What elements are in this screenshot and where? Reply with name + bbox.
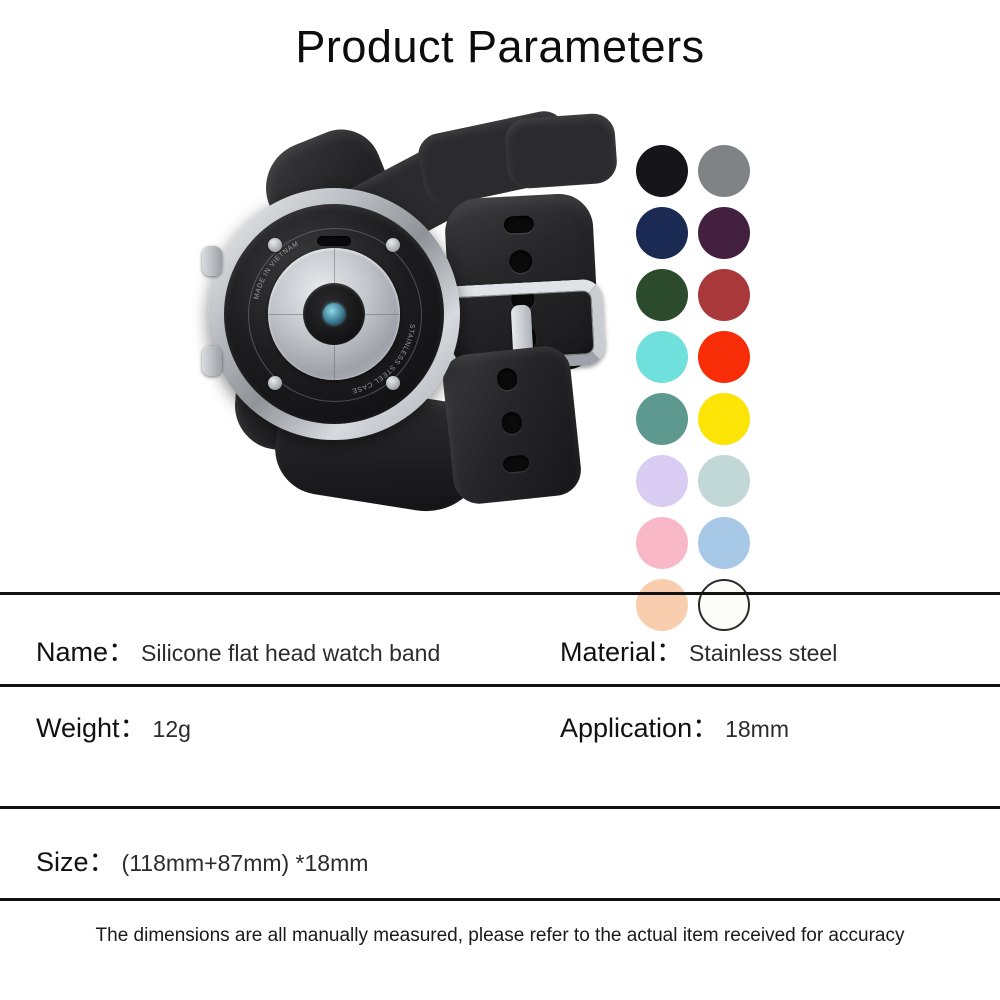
band-hole-5: [496, 367, 518, 391]
spec-row-application: Application： 18mm: [560, 706, 789, 745]
band-hole-1: [503, 215, 534, 234]
color-swatch-dark-green[interactable]: [636, 269, 688, 321]
color-swatch-white[interactable]: [698, 579, 750, 631]
spec-label-material: Material：: [560, 630, 683, 669]
color-swatch-pale-blue[interactable]: [698, 455, 750, 507]
color-swatch-peach[interactable]: [636, 579, 688, 631]
table-divider-third: [0, 806, 1000, 809]
color-swatch-black[interactable]: [636, 145, 688, 197]
color-swatch-turquoise[interactable]: [636, 331, 688, 383]
spec-value-name: Silicone flat head watch band: [141, 640, 440, 667]
spec-row-size: Size： (118mm+87mm) *18mm: [36, 840, 368, 879]
spec-row-name: Name： Silicone flat head watch band: [36, 630, 440, 669]
table-divider-top: [0, 592, 1000, 595]
spec-label-size: Size：: [36, 840, 116, 879]
heart-rate-sensor-array: [268, 248, 400, 380]
spec-label-weight: Weight：: [36, 706, 147, 745]
color-swatch-grid: [636, 145, 752, 631]
watch-side-button-top: [202, 246, 222, 276]
table-divider-bottom: [0, 898, 1000, 901]
sensor-optical-core: [303, 283, 365, 345]
spec-value-size: (118mm+87mm) *18mm: [122, 850, 369, 877]
table-divider-second: [0, 684, 1000, 687]
spec-value-application: 18mm: [725, 716, 789, 743]
band-lower-strap-segment: [441, 344, 584, 507]
spec-row-material: Material： Stainless steel: [560, 630, 837, 669]
watch-back-cover: MADE IN VIETNAM STAINLESS STEEL CASE: [224, 204, 444, 424]
band-hole-2: [509, 249, 533, 273]
color-swatch-lavender[interactable]: [636, 455, 688, 507]
color-swatch-yellow[interactable]: [698, 393, 750, 445]
band-hole-7: [502, 454, 530, 473]
color-swatch-red-orange[interactable]: [698, 331, 750, 383]
color-swatch-teal-gray[interactable]: [636, 393, 688, 445]
measurement-disclaimer: The dimensions are all manually measured…: [0, 925, 1000, 947]
spec-row-weight: Weight： 12g: [36, 706, 191, 745]
band-strap-tip: [504, 112, 619, 190]
spec-value-material: Stainless steel: [689, 640, 837, 667]
spec-value-weight: 12g: [153, 716, 191, 743]
color-swatch-dark-purple[interactable]: [698, 207, 750, 259]
product-photo-watch-band: MADE IN VIETNAM STAINLESS STEEL CASE: [180, 100, 620, 530]
color-swatch-pink[interactable]: [636, 517, 688, 569]
color-swatch-light-blue[interactable]: [698, 517, 750, 569]
hero-section: MADE IN VIETNAM STAINLESS STEEL CASE: [0, 95, 1000, 575]
band-hole-6: [501, 411, 523, 435]
spec-label-name: Name：: [36, 630, 135, 669]
spec-label-application: Application：: [560, 706, 719, 745]
color-swatch-navy-blue[interactable]: [636, 207, 688, 259]
smartwatch-case: MADE IN VIETNAM STAINLESS STEEL CASE: [208, 188, 460, 440]
watch-side-button-bottom: [202, 346, 222, 376]
color-swatch-brick-red[interactable]: [698, 269, 750, 321]
page-title: Product Parameters: [0, 24, 1000, 69]
band-lower-strap: [426, 350, 606, 530]
color-swatch-gray[interactable]: [698, 145, 750, 197]
